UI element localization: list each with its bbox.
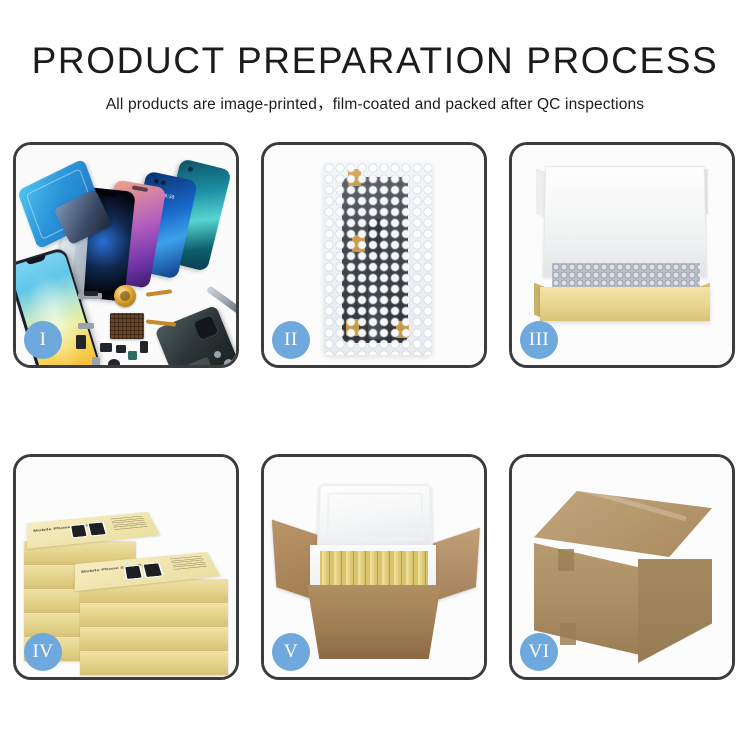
bubble-texture xyxy=(324,163,432,355)
small-part xyxy=(140,341,148,353)
chip-array-component xyxy=(110,313,144,339)
bubble-wrap-bag xyxy=(324,163,432,355)
step-badge-4: IV xyxy=(24,633,62,671)
screw-part xyxy=(224,359,233,365)
small-part xyxy=(116,345,126,353)
stacked-box xyxy=(80,651,228,675)
product-photo-on-lid xyxy=(144,563,162,577)
step-badge-6: VI xyxy=(520,633,558,671)
page-header: PRODUCT PREPARATION PROCESS All products… xyxy=(0,0,750,114)
white-box-lid xyxy=(543,166,708,277)
camera-punch-icon xyxy=(153,178,159,184)
yellow-box-body xyxy=(540,287,710,321)
carton-body xyxy=(298,585,450,659)
box-lid-label: Mobile Phone Spare Parts xyxy=(81,563,152,574)
stacked-box xyxy=(80,603,228,627)
small-part xyxy=(76,335,86,349)
process-step-panel-6: VI xyxy=(509,454,735,680)
small-part xyxy=(92,357,100,365)
process-step-panel-2: II xyxy=(261,142,487,368)
product-photo-on-lid xyxy=(71,525,86,537)
process-step-panel-3: III xyxy=(509,142,735,368)
process-step-panel-1: 16:38 xyxy=(13,142,239,368)
camera-punch-icon xyxy=(160,180,166,186)
small-part xyxy=(128,351,137,360)
carton-side-face xyxy=(638,559,712,663)
step-badge-5: V xyxy=(272,633,310,671)
product-photo-on-lid xyxy=(125,566,141,579)
small-part xyxy=(100,343,112,352)
step-badge-3: III xyxy=(520,321,558,359)
screw-part xyxy=(214,351,221,358)
gold-component-icon xyxy=(114,285,136,307)
process-steps-grid: 16:38 xyxy=(13,142,737,680)
lid-spec-lines xyxy=(111,516,149,533)
speaker-part xyxy=(108,359,120,365)
step-badge-1: I xyxy=(24,321,62,359)
foam-box-lid xyxy=(317,484,433,549)
carton-tape-patch xyxy=(560,623,576,645)
yellow-boxes-inside xyxy=(320,551,428,589)
lid-spec-lines xyxy=(170,556,208,573)
small-part xyxy=(84,291,98,296)
process-step-panel-5: V xyxy=(261,454,487,680)
camera-punch-icon xyxy=(187,166,193,172)
notch-icon xyxy=(132,185,148,192)
stacked-box xyxy=(80,627,228,651)
small-part xyxy=(78,323,94,329)
notch-icon xyxy=(100,191,116,197)
process-step-panel-4: Mobile Phone Spare Parts Mobile Phone Sp… xyxy=(13,454,239,680)
page-subtitle: All products are image-printed，film-coat… xyxy=(0,92,750,114)
carton-tape-patch xyxy=(558,549,574,571)
page-title: PRODUCT PREPARATION PROCESS xyxy=(0,42,750,79)
step-badge-2: II xyxy=(272,321,310,359)
